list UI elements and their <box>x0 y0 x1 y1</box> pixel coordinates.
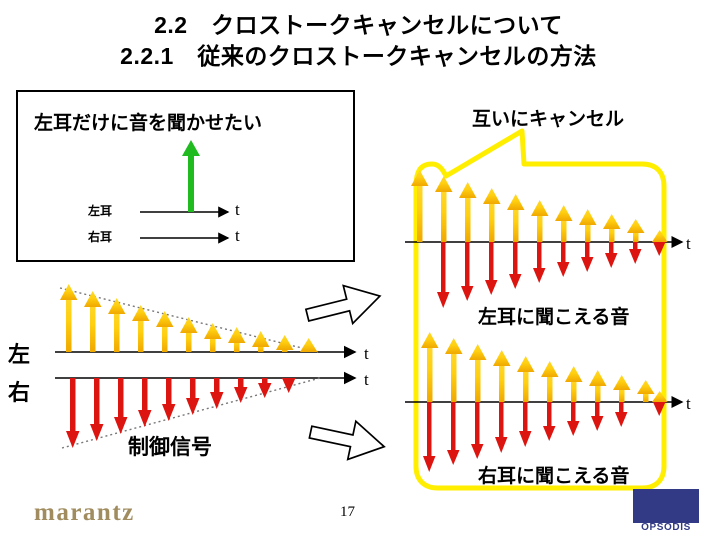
right-top-axis-t-label: t <box>686 234 691 254</box>
page-title-line-2: 2.2.1 従来のクロストークキャンセルの方法 <box>0 37 717 71</box>
intent-left-ear-label: 左耳 <box>88 202 112 219</box>
left-chart-label-left-ear: 左 <box>8 337 30 369</box>
intent-right-ear-label: 右耳 <box>88 228 112 245</box>
intent-right-axis-t-label: t <box>235 226 240 246</box>
left-chart-bottom-axis-t-label: t <box>364 370 369 390</box>
right-top-red-arrows <box>437 242 666 308</box>
left-chart-top-axis-t-label: t <box>364 344 369 364</box>
slide-canvas: 2.2 クロストークキャンセルについて 2.2.1 従来のクロストークキャンセル… <box>0 0 717 536</box>
page-number: 17 <box>340 504 355 521</box>
right-top-yellow-arrows <box>411 170 668 242</box>
page-title-line-1: 2.2 クロストークキャンセルについて <box>0 6 717 40</box>
right-bottom-axis-t-label: t <box>686 394 691 414</box>
opsodis-mark-background <box>633 489 699 523</box>
right-bottom-yellow-arrows <box>421 332 668 402</box>
right-top-chart-caption: 左耳に聞こえる音 <box>478 302 629 329</box>
diagram-vector-layer <box>0 0 717 536</box>
marantz-logo: marantz <box>34 499 135 527</box>
intent-left-axis-t-label: t <box>235 200 240 220</box>
mutual-cancel-callout-label: 互いにキャンセル <box>472 104 624 131</box>
opsodis-logo: OPSODIS <box>633 489 699 535</box>
left-chart-caption-control-signal: 制御信号 <box>128 431 212 461</box>
transition-block-arrow-bottom <box>307 413 388 467</box>
opsodis-wordmark: OPSODIS <box>633 522 699 533</box>
left-chart-yellow-arrows <box>60 284 318 352</box>
right-bottom-chart-caption: 右耳に聞こえる音 <box>478 461 629 488</box>
left-chart-top-envelope <box>60 288 318 352</box>
left-chart-label-right-ear: 右 <box>8 375 30 407</box>
intent-box-caption: 左耳だけに音を聞かせたい <box>34 108 262 135</box>
transition-block-arrow-top <box>303 278 385 334</box>
